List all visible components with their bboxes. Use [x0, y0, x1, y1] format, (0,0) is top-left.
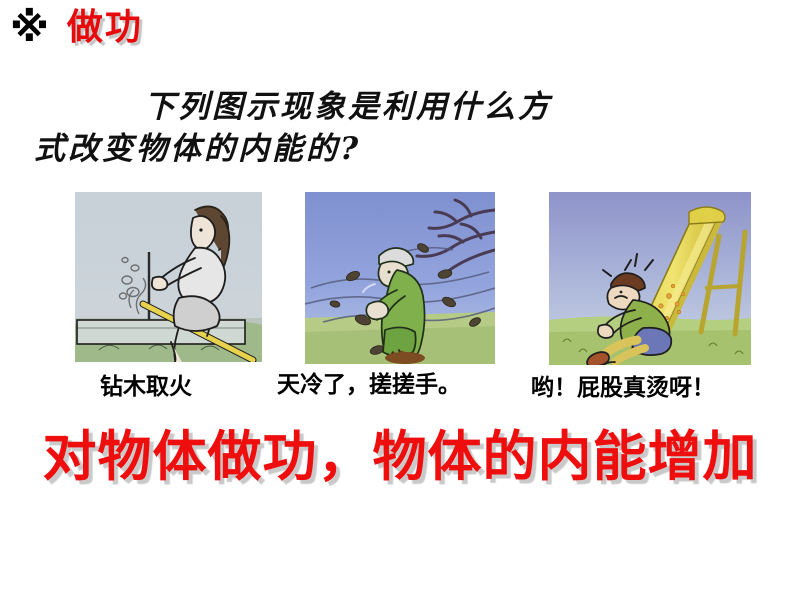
illustration-strip — [0, 192, 800, 364]
slide-canvas: ※ 做功 下列图示现象是利用什么方 式改变物体的内能的? — [0, 0, 800, 600]
caption-rubbing-hands-cold: 天冷了，搓搓手。 — [277, 371, 461, 399]
question-text: 下列图示现象是利用什么方 式改变物体的内能的? — [34, 86, 774, 170]
illustration-drilling-wood-fire — [75, 192, 262, 362]
page-title: 做功 — [67, 8, 143, 48]
question-line-1: 下列图示现象是利用什么方 — [34, 86, 774, 128]
child-on-slide-art — [549, 192, 751, 365]
reference-mark-icon: ※ — [10, 8, 49, 48]
rubbing-hands-cold-art — [305, 192, 495, 364]
slide-header: ※ 做功 — [10, 8, 143, 48]
drilling-wood-fire-art — [75, 192, 262, 362]
illustration-child-on-slide — [549, 192, 751, 365]
caption-drilling-wood-fire: 钻木取火 — [100, 373, 192, 401]
question-line-2: 式改变物体的内能的? — [34, 128, 774, 170]
caption-child-on-slide: 哟！屁股真烫呀！ — [531, 374, 715, 402]
conclusion-text: 对物体做功，物体的内能增加 — [0, 424, 800, 490]
illustration-rubbing-hands-cold — [305, 192, 495, 364]
